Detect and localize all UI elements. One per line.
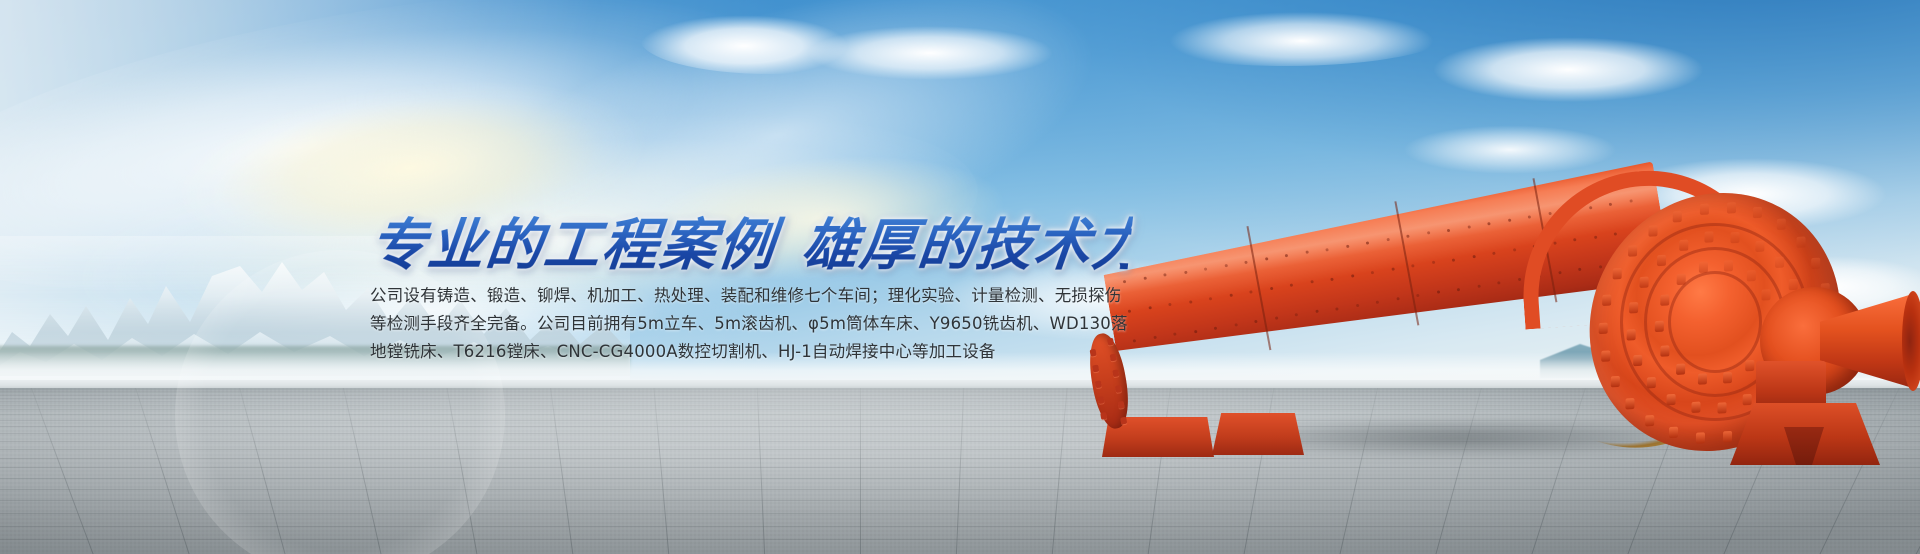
drum-rivet <box>1487 222 1490 225</box>
drum-rivet <box>1254 320 1257 323</box>
ball-mill-machine <box>1120 165 1920 495</box>
cloud-puff-4 <box>1410 30 1740 102</box>
drum-rivet <box>1431 261 1434 264</box>
drum-rivet <box>1371 271 1374 274</box>
flange-bolt <box>1118 401 1125 409</box>
end-head-bolt <box>1775 256 1784 267</box>
drum-rivet <box>1310 280 1313 283</box>
end-head-bolt <box>1717 402 1726 413</box>
drum-rivet <box>1492 251 1495 254</box>
cloud-puff-3 <box>1120 0 1450 66</box>
end-head-bolt <box>1699 261 1708 272</box>
end-head-bolt <box>1627 329 1636 340</box>
drum-rivet <box>1528 215 1531 218</box>
drum-rivet <box>1350 274 1353 277</box>
drum-rivet <box>1209 297 1212 300</box>
drum-rivet <box>1436 291 1439 294</box>
end-head-bolt <box>1723 372 1732 383</box>
drum-rivet <box>1305 251 1308 254</box>
drum-rivet <box>1335 307 1338 310</box>
end-head-bolt <box>1676 364 1685 375</box>
drum-rivet <box>1447 228 1450 231</box>
cloud-puff-2 <box>780 20 1080 80</box>
drum-rivet <box>1285 254 1288 257</box>
machine-support-foot-mid <box>1212 413 1304 455</box>
end-head-bolt <box>1722 430 1731 441</box>
end-head-bolt <box>1611 375 1620 386</box>
drum-rivet <box>1391 268 1394 271</box>
body-line-2: 等检测手段齐全完备。公司目前拥有5m立车、5m滚齿机、φ5m筒体车床、Y9650… <box>370 310 1180 338</box>
flange-bolt <box>1120 417 1127 425</box>
end-head-bolt <box>1753 207 1762 218</box>
end-head-bolt <box>1746 270 1755 281</box>
drum-rivet <box>1290 284 1293 287</box>
end-head-bolt <box>1724 260 1733 271</box>
drum-rivet <box>1229 293 1232 296</box>
drum-rivet <box>1193 330 1196 333</box>
drum-rivet <box>1467 225 1470 228</box>
drum-rivet <box>1416 294 1419 297</box>
drum-rivet <box>1472 255 1475 258</box>
end-head-bolt <box>1699 203 1708 214</box>
hero-banner: 专业的工程案例雄厚的技术力量 公司设有铸造、锻造、铆焊、机加工、热处理、装配和维… <box>0 0 1920 554</box>
drum-rivet <box>1548 212 1551 215</box>
end-head-bolt <box>1612 268 1621 279</box>
end-head-bolt <box>1673 211 1682 222</box>
flange-bolt <box>1098 396 1105 404</box>
end-head-bolt <box>1776 219 1785 230</box>
drum-rivet <box>1315 310 1318 313</box>
drum-rivet <box>1512 248 1515 251</box>
end-head-bolt <box>1602 295 1611 306</box>
end-head-bolt <box>1679 239 1688 250</box>
drum-rivet <box>1355 304 1358 307</box>
flange-bolt <box>1115 385 1122 393</box>
end-head-bolt <box>1628 245 1637 256</box>
drum-rivet <box>1396 297 1399 300</box>
drum-rivet <box>1189 300 1192 303</box>
end-head-bolt <box>1704 231 1713 242</box>
end-head-bolt <box>1691 402 1700 413</box>
banner-body-text: 公司设有铸造、锻造、铆焊、机加工、热处理、装配和维修七个车间；理化实验、计量检测… <box>370 282 1180 366</box>
drum-rivet <box>1234 323 1237 326</box>
end-head-bolt <box>1695 432 1704 443</box>
end-head-bolt <box>1649 225 1658 236</box>
end-head-bolt <box>1811 258 1820 269</box>
drum-rivet <box>1345 244 1348 247</box>
drum-rivet <box>1325 248 1328 251</box>
drum-rivet <box>1214 326 1217 329</box>
end-head-bolt <box>1639 277 1648 288</box>
drum-rivet <box>1452 258 1455 261</box>
end-head-bolt <box>1655 320 1664 331</box>
end-head-bolt <box>1762 289 1771 300</box>
drum-rivet <box>1457 287 1460 290</box>
end-head-bolt <box>1601 350 1610 361</box>
body-line-1: 公司设有铸造、锻造、铆焊、机加工、热处理、装配和维修七个车间；理化实验、计量检测… <box>370 282 1180 310</box>
drum-rivet <box>1295 313 1298 316</box>
drum-rivet <box>1244 261 1247 264</box>
end-head-bolt <box>1660 345 1669 356</box>
end-head-bolt <box>1669 427 1678 438</box>
end-head-bolt <box>1645 415 1654 426</box>
end-head-bolt <box>1789 278 1798 289</box>
drum-rivet <box>1269 287 1272 290</box>
drum-rivet <box>1406 235 1409 238</box>
headline-left: 专业的工程案例 <box>367 212 780 278</box>
end-head-bolt <box>1755 240 1764 251</box>
drum-rivet <box>1477 284 1480 287</box>
end-head-bolt <box>1656 255 1665 266</box>
end-head-bolt <box>1698 374 1707 385</box>
drum-rivet <box>1497 281 1500 284</box>
discharge-cone-mouth <box>1902 291 1920 391</box>
end-head-bolt <box>1626 398 1635 409</box>
flange-bolt <box>1095 380 1102 388</box>
end-head-bolt <box>1667 393 1676 404</box>
drum-rivet <box>1426 231 1429 234</box>
flange-bolt <box>1100 412 1107 420</box>
end-head-bolt <box>1731 231 1740 242</box>
end-head-bolt <box>1726 202 1735 213</box>
end-head-bolt <box>1660 295 1669 306</box>
flange-bolt <box>1112 369 1119 377</box>
end-head-bolt <box>1745 360 1754 371</box>
banner-headline: 专业的工程案例雄厚的技术力量 <box>367 215 1134 277</box>
drum-rivet <box>1386 238 1389 241</box>
drum-rivet <box>1411 264 1414 267</box>
end-head-bolt <box>1629 302 1638 313</box>
end-head-bolt <box>1743 394 1752 405</box>
drum-rivet <box>1274 317 1277 320</box>
drum-rivet <box>1330 277 1333 280</box>
drum-rivet <box>1376 300 1379 303</box>
drum-rivet <box>1366 241 1369 244</box>
drum-rivet <box>1265 257 1268 260</box>
end-head-bolt <box>1633 355 1642 366</box>
end-head-bolt <box>1599 323 1608 334</box>
end-head-bolt <box>1647 377 1656 388</box>
drum-rivet <box>1249 290 1252 293</box>
drum-rivet <box>1507 219 1510 222</box>
end-head-bolt <box>1676 274 1685 285</box>
body-line-3: 地镗铣床、T6216镗床、CNC-CG4000A数控切割机、HJ-1自动焊接中心… <box>370 338 1180 366</box>
end-head-bolt <box>1796 236 1805 247</box>
headline-right: 雄厚的技术力量 <box>799 212 1212 278</box>
drum-rivet <box>1224 264 1227 267</box>
